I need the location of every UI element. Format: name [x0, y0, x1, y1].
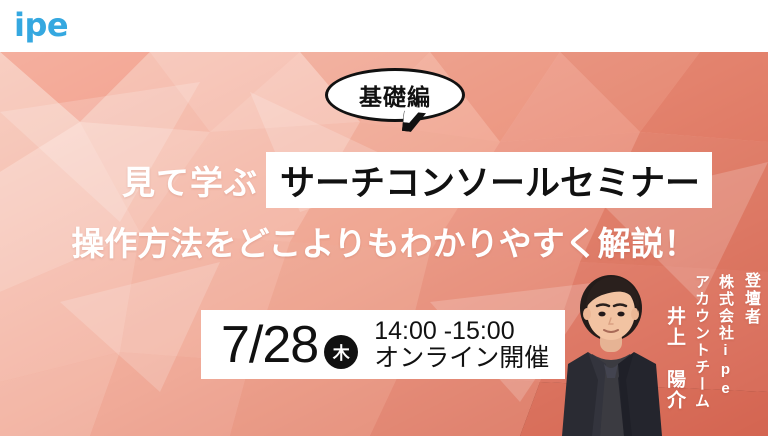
ipe-logo[interactable]: ipe [14, 8, 68, 42]
title-highlight-box: サーチコンソールセミナー [266, 152, 712, 208]
category-badge-bubble: 基礎編 [325, 68, 465, 122]
title-row: 見て学ぶ サーチコンソールセミナー [0, 152, 768, 208]
title-prefix: 見て学ぶ [122, 152, 258, 208]
speaker-info: 登壇者 株式会社ipe アカウントチーム 井上 陽介 [652, 272, 762, 411]
schedule-box: 7/28 木 14:00 -15:00 オンライン開催 [201, 310, 565, 379]
header-bar: ipe [0, 0, 768, 52]
speaker-role-label: 登壇者 [738, 272, 762, 326]
badge-label: 基礎編 [325, 68, 465, 122]
weekday-badge: 木 [324, 335, 358, 369]
speaker-team: アカウントチーム [691, 272, 712, 410]
event-date: 7/28 [221, 319, 318, 371]
speaker-name: 井上 陽介 [661, 272, 688, 411]
title-highlight-text: サーチコンソールセミナー [280, 155, 700, 206]
time-block: 14:00 -15:00 オンライン開催 [374, 318, 549, 371]
subtitle-text: 操作方法をどこよりもわかりやすく解説！ [0, 216, 768, 266]
event-format: オンライン開催 [374, 345, 549, 372]
seminar-banner: ipe 基礎編 見て学ぶ サーチコンソールセミナー 操作方法をどこよりもわかりや… [0, 0, 768, 436]
event-time: 14:00 -15:00 [374, 318, 549, 345]
speaker-company: 株式会社ipe [715, 272, 736, 399]
